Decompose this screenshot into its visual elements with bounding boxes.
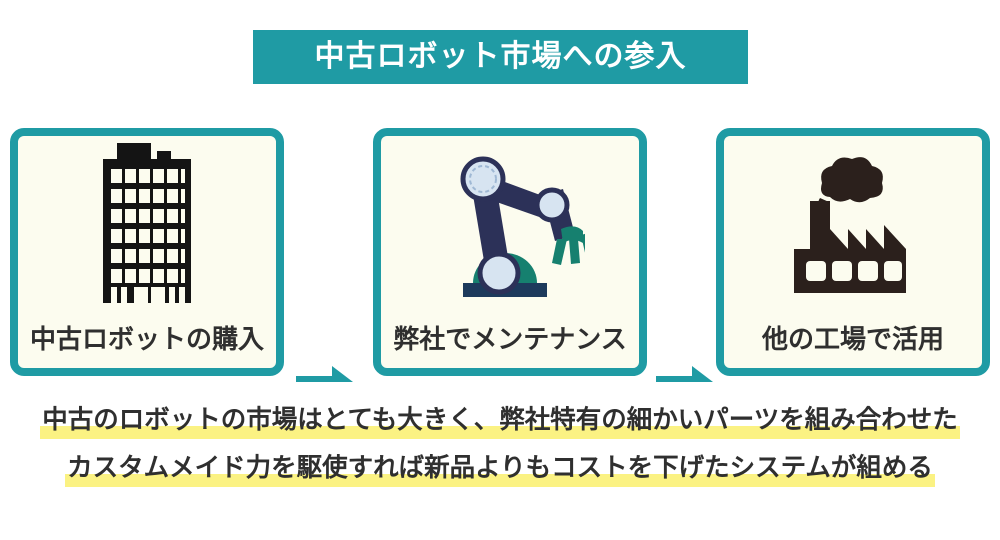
slide-root: 中古ロボット市場への参入: [0, 0, 1000, 540]
step-card-label: 他の工場で活用: [724, 325, 982, 354]
caption-line-1-text: 中古のロボットの市場はとても大きく、弊社特有の細かいパーツを組み合わせた: [40, 396, 959, 444]
caption-block: 中古のロボットの市場はとても大きく、弊社特有の細かいパーツを組み合わせた カスタ…: [0, 396, 1000, 492]
office-building-icon: [18, 140, 276, 306]
arrow-right-icon: [296, 360, 354, 392]
caption-line-2: カスタムメイド力を駆使すれば新品よりもコストを下げたシステムが組める: [0, 444, 1000, 492]
caption-line-1: 中古のロボットの市場はとても大きく、弊社特有の細かいパーツを組み合わせた: [0, 396, 1000, 444]
factory-icon: [724, 140, 982, 306]
robot-arm-icon: [381, 140, 639, 306]
step-card-purchase[interactable]: 中古ロボットの購入: [10, 128, 284, 376]
process-steps: 中古ロボットの購入: [0, 128, 1000, 376]
step-card-maintenance[interactable]: 弊社でメンテナンス: [373, 128, 647, 376]
step-card-utilize[interactable]: 他の工場で活用: [716, 128, 990, 376]
step-card-label: 中古ロボットの購入: [18, 325, 276, 354]
caption-line-2-text: カスタムメイド力を駆使すれば新品よりもコストを下げたシステムが組める: [65, 444, 935, 492]
page-title: 中古ロボット市場への参入: [315, 42, 687, 72]
step-card-label: 弊社でメンテナンス: [381, 325, 639, 354]
page-title-banner: 中古ロボット市場への参入: [253, 30, 748, 84]
arrow-right-icon: [656, 360, 714, 392]
